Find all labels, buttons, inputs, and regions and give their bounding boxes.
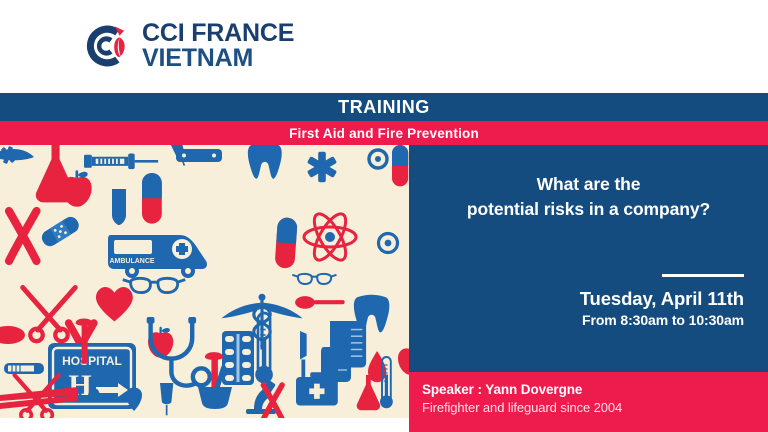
medical-icons-pattern: AMBULANCE [0,145,409,418]
question-line-1: What are the [537,174,641,194]
event-date-block: Tuesday, April 11th From 8:30am to 10:30… [444,287,744,329]
event-info-panel: What are the potential risks in a compan… [409,145,768,372]
ambulance-label: AMBULANCE [109,258,154,265]
event-date: Tuesday, April 11th [444,287,744,311]
training-poster: CCI FRANCE VIETNAM TRAINING First Aid an… [0,0,768,432]
brand-wordmark: CCI FRANCE VIETNAM [142,21,294,72]
poster-header: CCI FRANCE VIETNAM [0,0,768,93]
brand-logo[interactable]: CCI FRANCE VIETNAM [79,20,294,72]
event-question: What are the potential risks in a compan… [409,172,768,222]
subtitle-band: First Aid and Fire Prevention [0,121,768,145]
brand-name-line2: VIETNAM [142,46,294,72]
category-label: TRAINING [338,97,430,118]
speaker-name: Speaker : Yann Dovergne [422,381,768,399]
brand-name-line1: CCI FRANCE [142,19,294,47]
divider-rule [662,274,744,277]
question-line-2: potential risks in a company? [467,199,710,219]
category-band: TRAINING [0,93,768,121]
hospital-label: HOSPITAL [62,354,122,368]
cci-logo-mark-icon [79,20,131,72]
subtitle-label: First Aid and Fire Prevention [289,126,479,141]
speaker-role: Firefighter and lifeguard since 2004 [422,399,768,417]
medical-pattern-svg: AMBULANCE [0,145,409,418]
speaker-bar: Speaker : Yann Dovergne Firefighter and … [409,372,768,432]
event-time: From 8:30am to 10:30am [444,311,744,329]
